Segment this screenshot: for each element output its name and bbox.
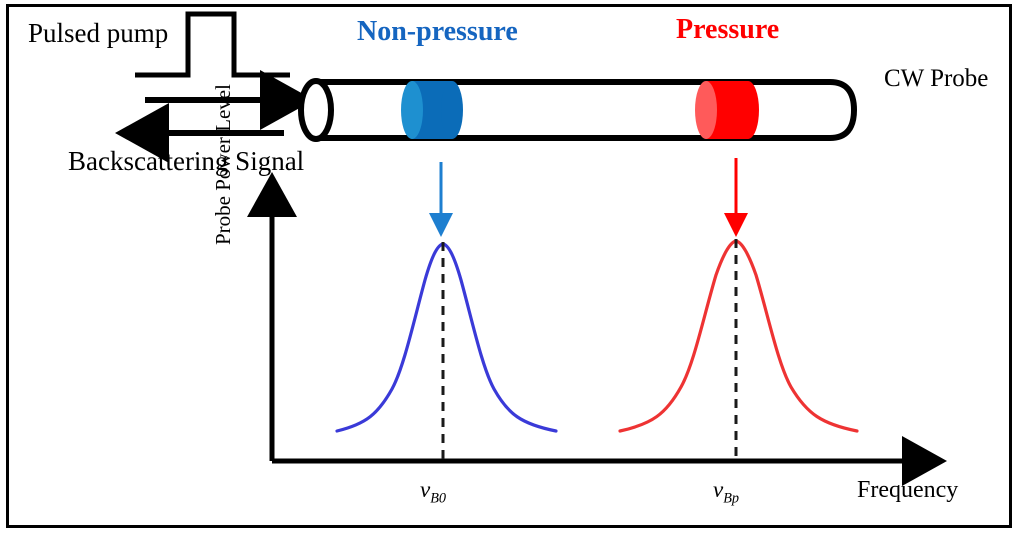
curve-pressure — [620, 241, 857, 431]
pressure-section-icon — [695, 81, 759, 139]
fiber-left-opening-icon — [301, 81, 331, 139]
cylinder-icon — [301, 81, 854, 139]
curve-non-pressure — [337, 244, 556, 431]
figure-root: Pulsed pump Backscattering Signal Non-pr… — [0, 0, 1024, 540]
diagram-vectors — [0, 0, 1024, 540]
square-pulse-icon — [135, 14, 290, 75]
non-pressure-section-icon — [401, 81, 463, 139]
chart-axes — [272, 207, 912, 461]
